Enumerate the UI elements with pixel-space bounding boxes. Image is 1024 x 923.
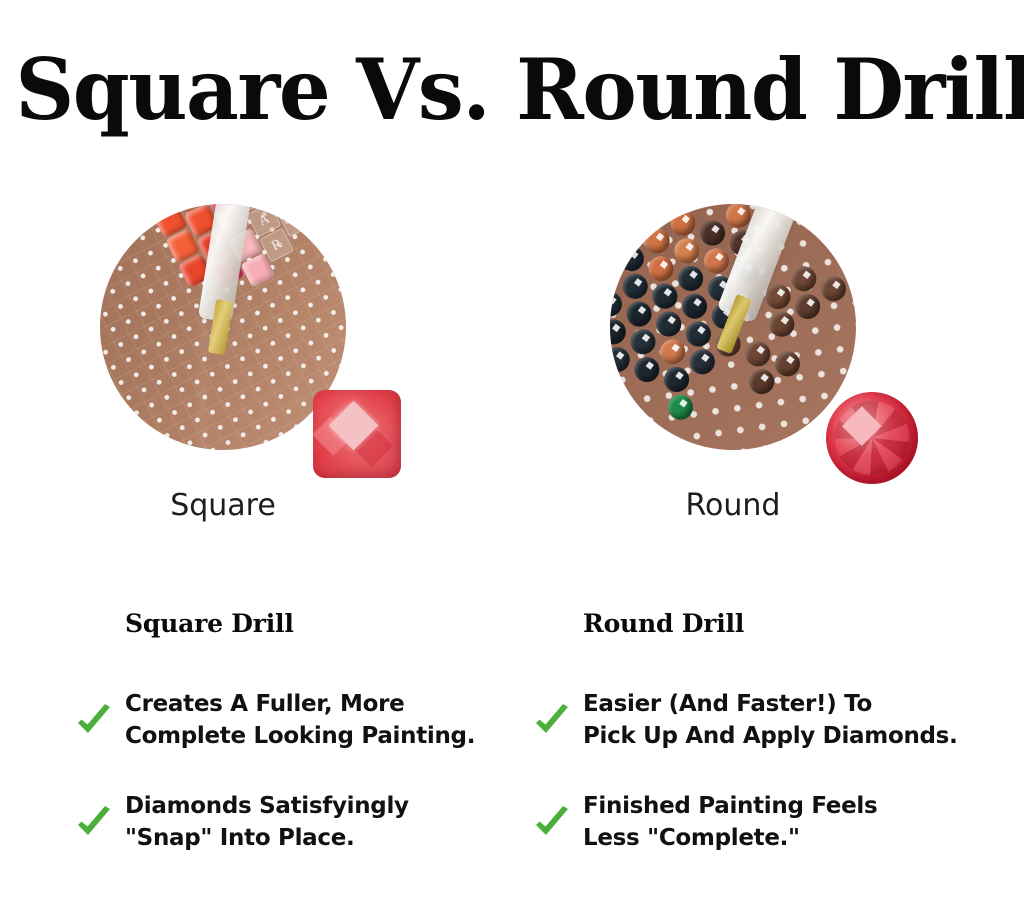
square-gem-swatch — [313, 390, 401, 478]
comparison-columns: Square Drill Creates A Fuller, More Comp… — [0, 600, 1024, 900]
list-item-label: Easier (And Faster!) To Pick Up And Appl… — [583, 688, 958, 752]
round-drill-photo — [610, 204, 856, 450]
check-icon — [74, 702, 114, 742]
list-item: Finished Painting Feels Less "Complete." — [528, 790, 958, 854]
list-item-label: Creates A Fuller, More Complete Looking … — [125, 688, 500, 752]
round-drill-bullet-list: Easier (And Faster!) To Pick Up And Appl… — [528, 688, 958, 892]
square-drill-photo: G A R R G A 5 R G 5 A — [100, 204, 346, 450]
check-icon — [74, 804, 114, 844]
check-icon — [532, 702, 572, 742]
round-drill-photo-wrap — [610, 204, 856, 462]
square-drill-heading: Square Drill — [125, 608, 294, 640]
square-drill-bullet-list: Creates A Fuller, More Complete Looking … — [70, 688, 500, 892]
list-item-label: Finished Painting Feels Less "Complete." — [583, 790, 958, 854]
square-drill-photo-wrap: G A R R G A 5 R G 5 A — [100, 204, 346, 462]
square-photo-caption: Square — [100, 486, 346, 526]
check-icon — [532, 804, 572, 844]
list-item: Easier (And Faster!) To Pick Up And Appl… — [528, 688, 958, 752]
comparison-photo-row: G A R R G A 5 R G 5 A — [0, 204, 1024, 466]
round-photo-caption: Round — [610, 486, 856, 526]
round-drill-heading: Round Drill — [583, 608, 744, 640]
list-item-label: Diamonds Satisfyingly "Snap" Into Place. — [125, 790, 500, 854]
page-title: Square Vs. Round Drill — [15, 44, 1008, 136]
list-item: Creates A Fuller, More Complete Looking … — [70, 688, 500, 752]
round-gem-swatch — [826, 392, 918, 484]
list-item: Diamonds Satisfyingly "Snap" Into Place. — [70, 790, 500, 854]
